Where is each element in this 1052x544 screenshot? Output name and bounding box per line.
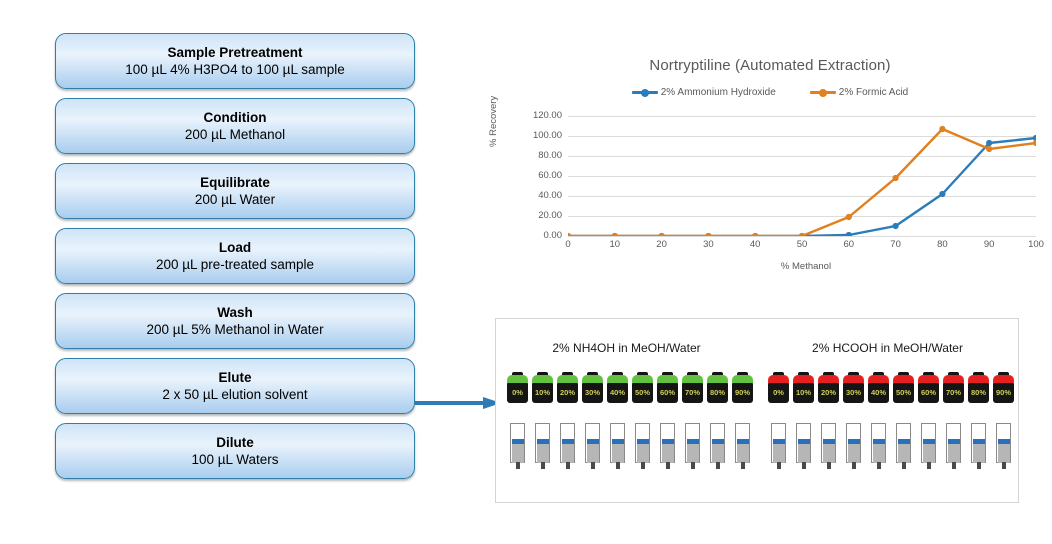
bottle-percent-label: 70%	[946, 389, 961, 397]
flow-step-detail: 200 µL 5% Methanol in Water	[146, 321, 323, 338]
solvent-bottle-icon: 50%	[631, 372, 654, 404]
spe-cartridge-icon	[817, 423, 840, 470]
solvent-group: 2% HCOOH in MeOH/Water0%10%20%30%40%50%6…	[757, 319, 1018, 502]
x-axis-tick: 20	[645, 239, 679, 250]
flow-step-equilibrate: Equilibrate200 µL Water	[55, 163, 415, 219]
cartridge-frit	[512, 439, 524, 444]
gridline	[568, 236, 1036, 237]
solvent-bottle-icon: 20%	[556, 372, 579, 404]
cartridge-frit	[562, 439, 574, 444]
series-line	[568, 138, 1036, 236]
cartridge-tip	[716, 462, 720, 469]
cartridge-tip	[977, 462, 981, 469]
y-axis-tick: 100.00	[506, 131, 562, 141]
bottle-percent-label: 40%	[871, 389, 886, 397]
flow-step-title: Load	[219, 239, 251, 256]
legend-entry[interactable]: 2% Formic Acid	[810, 87, 908, 98]
spe-cartridge-icon	[681, 423, 704, 470]
x-axis-tick: 70	[879, 239, 913, 250]
y-axis-label: % Recovery	[488, 96, 499, 147]
cartridge-tip	[616, 462, 620, 469]
arrow-right-icon	[415, 396, 501, 410]
cartridge-frit	[737, 439, 749, 444]
bottle-percent-label: 0%	[773, 389, 784, 397]
extraction-protocol-flowchart: Sample Pretreatment100 µL 4% H3PO4 to 10…	[55, 33, 415, 488]
bottle-percent-label: 30%	[585, 389, 600, 397]
cartridge-sorbent	[973, 442, 985, 463]
cartridge-frit	[687, 439, 699, 444]
cartridge-tip	[877, 462, 881, 469]
bottle-body: 80%	[707, 383, 728, 403]
flow-step-detail: 2 x 50 µL elution solvent	[162, 386, 307, 403]
cartridge-frit	[637, 439, 649, 444]
spe-cartridge-icon	[892, 423, 915, 470]
bottle-row: 0%10%20%30%40%50%60%70%80%90%	[767, 372, 1015, 404]
solvent-bottle-icon: 20%	[817, 372, 840, 404]
bottle-body: 20%	[557, 383, 578, 403]
legend-marker-icon	[810, 87, 836, 98]
flow-step-detail: 200 µL Water	[195, 191, 275, 208]
data-point-marker	[846, 214, 852, 220]
spe-cartridge-icon	[556, 423, 579, 470]
bottle-body: 0%	[768, 383, 789, 403]
cartridge-tip	[952, 462, 956, 469]
cartridge-sorbent	[662, 442, 674, 463]
bottle-percent-label: 30%	[846, 389, 861, 397]
cartridge-sorbent	[998, 442, 1010, 463]
solvent-bottle-icon: 30%	[581, 372, 604, 404]
bottle-percent-label: 20%	[560, 389, 575, 397]
legend-label: 2% Ammonium Hydroxide	[661, 87, 776, 98]
data-point-marker	[846, 232, 852, 236]
legend-entry[interactable]: 2% Ammonium Hydroxide	[632, 87, 776, 98]
bottle-body: 0%	[507, 383, 528, 403]
recovery-chart: Nortryptiline (Automated Extraction) 2% …	[490, 45, 1050, 285]
y-axis-tick: 80.00	[506, 151, 562, 161]
spe-cartridge-icon	[842, 423, 865, 470]
solvent-group-title: 2% HCOOH in MeOH/Water	[757, 341, 1018, 355]
cartridge-tip	[591, 462, 595, 469]
x-axis-tick: 100	[1019, 239, 1052, 250]
flow-step-detail: 200 µL Methanol	[185, 126, 285, 143]
bottle-body: 70%	[682, 383, 703, 403]
series-line	[568, 129, 1036, 236]
data-point-marker	[568, 233, 571, 236]
chart-title: Nortryptiline (Automated Extraction)	[490, 57, 1050, 74]
flow-step-title: Dilute	[216, 434, 254, 451]
bottle-percent-label: 60%	[921, 389, 936, 397]
solvent-bottle-icon: 80%	[967, 372, 990, 404]
legend-label: 2% Formic Acid	[839, 87, 908, 98]
bottle-body: 70%	[943, 383, 964, 403]
spe-cartridge-icon	[992, 423, 1015, 470]
flow-step-condition: Condition200 µL Methanol	[55, 98, 415, 154]
x-axis-tick: 80	[925, 239, 959, 250]
bottle-body: 90%	[993, 383, 1014, 403]
solvent-bottle-icon: 0%	[767, 372, 790, 404]
x-axis-tick: 50	[785, 239, 819, 250]
spe-cartridge-icon	[867, 423, 890, 470]
cartridge-frit	[662, 439, 674, 444]
flow-step-title: Wash	[217, 304, 253, 321]
spe-cartridge-icon	[506, 423, 529, 470]
flow-step-title: Elute	[218, 369, 251, 386]
cartridge-tip	[741, 462, 745, 469]
bottle-row: 0%10%20%30%40%50%60%70%80%90%	[506, 372, 754, 404]
solvent-bottle-icon: 80%	[706, 372, 729, 404]
cartridge-sorbent	[773, 442, 785, 463]
solvent-bottle-icon: 90%	[992, 372, 1015, 404]
spe-cartridge-icon	[581, 423, 604, 470]
y-axis-tick: 40.00	[506, 191, 562, 201]
cartridge-tip	[852, 462, 856, 469]
chart-legend: 2% Ammonium Hydroxide2% Formic Acid	[490, 87, 1050, 98]
elution-solvent-panel: 2% NH4OH in MeOH/Water0%10%20%30%40%50%6…	[495, 318, 1019, 503]
bottle-body: 80%	[968, 383, 989, 403]
cartridge-tip	[827, 462, 831, 469]
flow-step-wash: Wash200 µL 5% Methanol in Water	[55, 293, 415, 349]
bottle-body: 90%	[732, 383, 753, 403]
bottle-percent-label: 40%	[610, 389, 625, 397]
cartridge-tip	[641, 462, 645, 469]
bottle-body: 60%	[657, 383, 678, 403]
cartridge-frit	[898, 439, 910, 444]
cartridge-row	[506, 423, 754, 470]
bottle-body: 30%	[843, 383, 864, 403]
y-axis-tick: 120.00	[506, 111, 562, 121]
cartridge-sorbent	[823, 442, 835, 463]
data-point-marker	[705, 233, 711, 236]
bottle-body: 10%	[793, 383, 814, 403]
bottle-percent-label: 90%	[735, 389, 750, 397]
cartridge-tip	[777, 462, 781, 469]
cartridge-frit	[873, 439, 885, 444]
flow-step-sample-pretreatment: Sample Pretreatment100 µL 4% H3PO4 to 10…	[55, 33, 415, 89]
cartridge-sorbent	[898, 442, 910, 463]
solvent-bottle-icon: 70%	[942, 372, 965, 404]
data-point-marker	[939, 126, 945, 132]
cartridge-frit	[537, 439, 549, 444]
solvent-group-title: 2% NH4OH in MeOH/Water	[496, 341, 757, 355]
y-axis-tick: 20.00	[506, 211, 562, 221]
solvent-bottle-icon: 40%	[606, 372, 629, 404]
data-point-marker	[986, 140, 992, 146]
cartridge-frit	[773, 439, 785, 444]
cartridge-frit	[948, 439, 960, 444]
bottle-percent-label: 10%	[796, 389, 811, 397]
cartridge-sorbent	[512, 442, 524, 463]
cartridge-tip	[516, 462, 520, 469]
flow-step-load: Load200 µL pre-treated sample	[55, 228, 415, 284]
solvent-bottle-icon: 40%	[867, 372, 890, 404]
solvent-bottle-icon: 90%	[731, 372, 754, 404]
bottle-body: 40%	[607, 383, 628, 403]
bottle-body: 20%	[818, 383, 839, 403]
bottle-body: 50%	[893, 383, 914, 403]
bottle-percent-label: 50%	[635, 389, 650, 397]
cartridge-sorbent	[712, 442, 724, 463]
cartridge-sorbent	[687, 442, 699, 463]
cartridge-frit	[798, 439, 810, 444]
cartridge-tip	[927, 462, 931, 469]
cartridge-sorbent	[587, 442, 599, 463]
solvent-bottle-icon: 10%	[531, 372, 554, 404]
solvent-bottle-icon: 0%	[506, 372, 529, 404]
bottle-body: 50%	[632, 383, 653, 403]
spe-cartridge-icon	[792, 423, 815, 470]
solvent-group: 2% NH4OH in MeOH/Water0%10%20%30%40%50%6…	[496, 319, 757, 502]
spe-cartridge-icon	[967, 423, 990, 470]
flow-step-dilute: Dilute100 µL Waters	[55, 423, 415, 479]
spe-cartridge-icon	[606, 423, 629, 470]
spe-cartridge-icon	[531, 423, 554, 470]
solvent-bottle-icon: 70%	[681, 372, 704, 404]
solvent-bottle-icon: 50%	[892, 372, 915, 404]
solvent-bottle-icon: 30%	[842, 372, 865, 404]
bottle-body: 10%	[532, 383, 553, 403]
bottle-percent-label: 80%	[710, 389, 725, 397]
flow-step-elute: Elute2 x 50 µL elution solvent	[55, 358, 415, 414]
cartridge-tip	[802, 462, 806, 469]
x-axis-tick: 10	[598, 239, 632, 250]
x-axis-tick: 30	[691, 239, 725, 250]
solvent-bottle-icon: 10%	[792, 372, 815, 404]
data-point-marker	[612, 233, 618, 236]
data-point-marker	[893, 223, 899, 229]
x-axis-tick: 40	[738, 239, 772, 250]
bottle-body: 30%	[582, 383, 603, 403]
cartridge-frit	[612, 439, 624, 444]
cartridge-sorbent	[612, 442, 624, 463]
cartridge-sorbent	[873, 442, 885, 463]
data-point-marker	[659, 233, 665, 236]
flow-step-detail: 100 µL 4% H3PO4 to 100 µL sample	[125, 61, 344, 78]
cartridge-tip	[541, 462, 545, 469]
flow-step-title: Sample Pretreatment	[167, 44, 302, 61]
cartridge-sorbent	[798, 442, 810, 463]
x-axis-tick: 90	[972, 239, 1006, 250]
spe-cartridge-icon	[767, 423, 790, 470]
cartridge-sorbent	[948, 442, 960, 463]
cartridge-frit	[973, 439, 985, 444]
cartridge-tip	[566, 462, 570, 469]
bottle-body: 60%	[918, 383, 939, 403]
bottle-percent-label: 80%	[971, 389, 986, 397]
chart-plot-area	[568, 116, 1036, 236]
flow-step-title: Equilibrate	[200, 174, 270, 191]
bottle-body: 40%	[868, 383, 889, 403]
bottle-percent-label: 50%	[896, 389, 911, 397]
cartridge-frit	[923, 439, 935, 444]
data-point-marker	[939, 191, 945, 197]
y-axis-tick: 60.00	[506, 171, 562, 181]
cartridge-sorbent	[848, 442, 860, 463]
cartridge-frit	[998, 439, 1010, 444]
bottle-percent-label: 10%	[535, 389, 550, 397]
cartridge-frit	[848, 439, 860, 444]
bottle-percent-label: 60%	[660, 389, 675, 397]
flow-step-detail: 200 µL pre-treated sample	[156, 256, 314, 273]
cartridge-sorbent	[537, 442, 549, 463]
x-axis-label: % Methanol	[566, 261, 1046, 272]
spe-cartridge-icon	[942, 423, 965, 470]
cartridge-frit	[712, 439, 724, 444]
solvent-bottle-icon: 60%	[917, 372, 940, 404]
cartridge-sorbent	[923, 442, 935, 463]
cartridge-tip	[1002, 462, 1006, 469]
spe-cartridge-icon	[731, 423, 754, 470]
bottle-percent-label: 0%	[512, 389, 523, 397]
chart-plot-wrapper: % Recovery 120.00100.0080.0060.0040.0020…	[490, 111, 1050, 283]
spe-cartridge-icon	[917, 423, 940, 470]
x-axis-tick: 60	[832, 239, 866, 250]
cartridge-sorbent	[737, 442, 749, 463]
solvent-bottle-icon: 60%	[656, 372, 679, 404]
cartridge-tip	[666, 462, 670, 469]
spe-cartridge-icon	[706, 423, 729, 470]
bottle-percent-label: 70%	[685, 389, 700, 397]
bottle-percent-label: 90%	[996, 389, 1011, 397]
flow-step-detail: 100 µL Waters	[191, 451, 278, 468]
legend-marker-icon	[632, 87, 658, 98]
bottle-percent-label: 20%	[821, 389, 836, 397]
spe-cartridge-icon	[656, 423, 679, 470]
chart-series-svg	[568, 116, 1036, 236]
x-axis-tick: 0	[551, 239, 585, 250]
data-point-marker	[799, 233, 805, 236]
cartridge-row	[767, 423, 1015, 470]
spe-cartridge-icon	[631, 423, 654, 470]
cartridge-tip	[902, 462, 906, 469]
cartridge-frit	[823, 439, 835, 444]
data-point-marker	[893, 175, 899, 181]
data-point-marker	[1033, 140, 1036, 146]
cartridge-sorbent	[637, 442, 649, 463]
flow-step-title: Condition	[204, 109, 267, 126]
cartridge-frit	[587, 439, 599, 444]
data-point-marker	[752, 233, 758, 236]
cartridge-sorbent	[562, 442, 574, 463]
cartridge-tip	[691, 462, 695, 469]
data-point-marker	[986, 146, 992, 152]
